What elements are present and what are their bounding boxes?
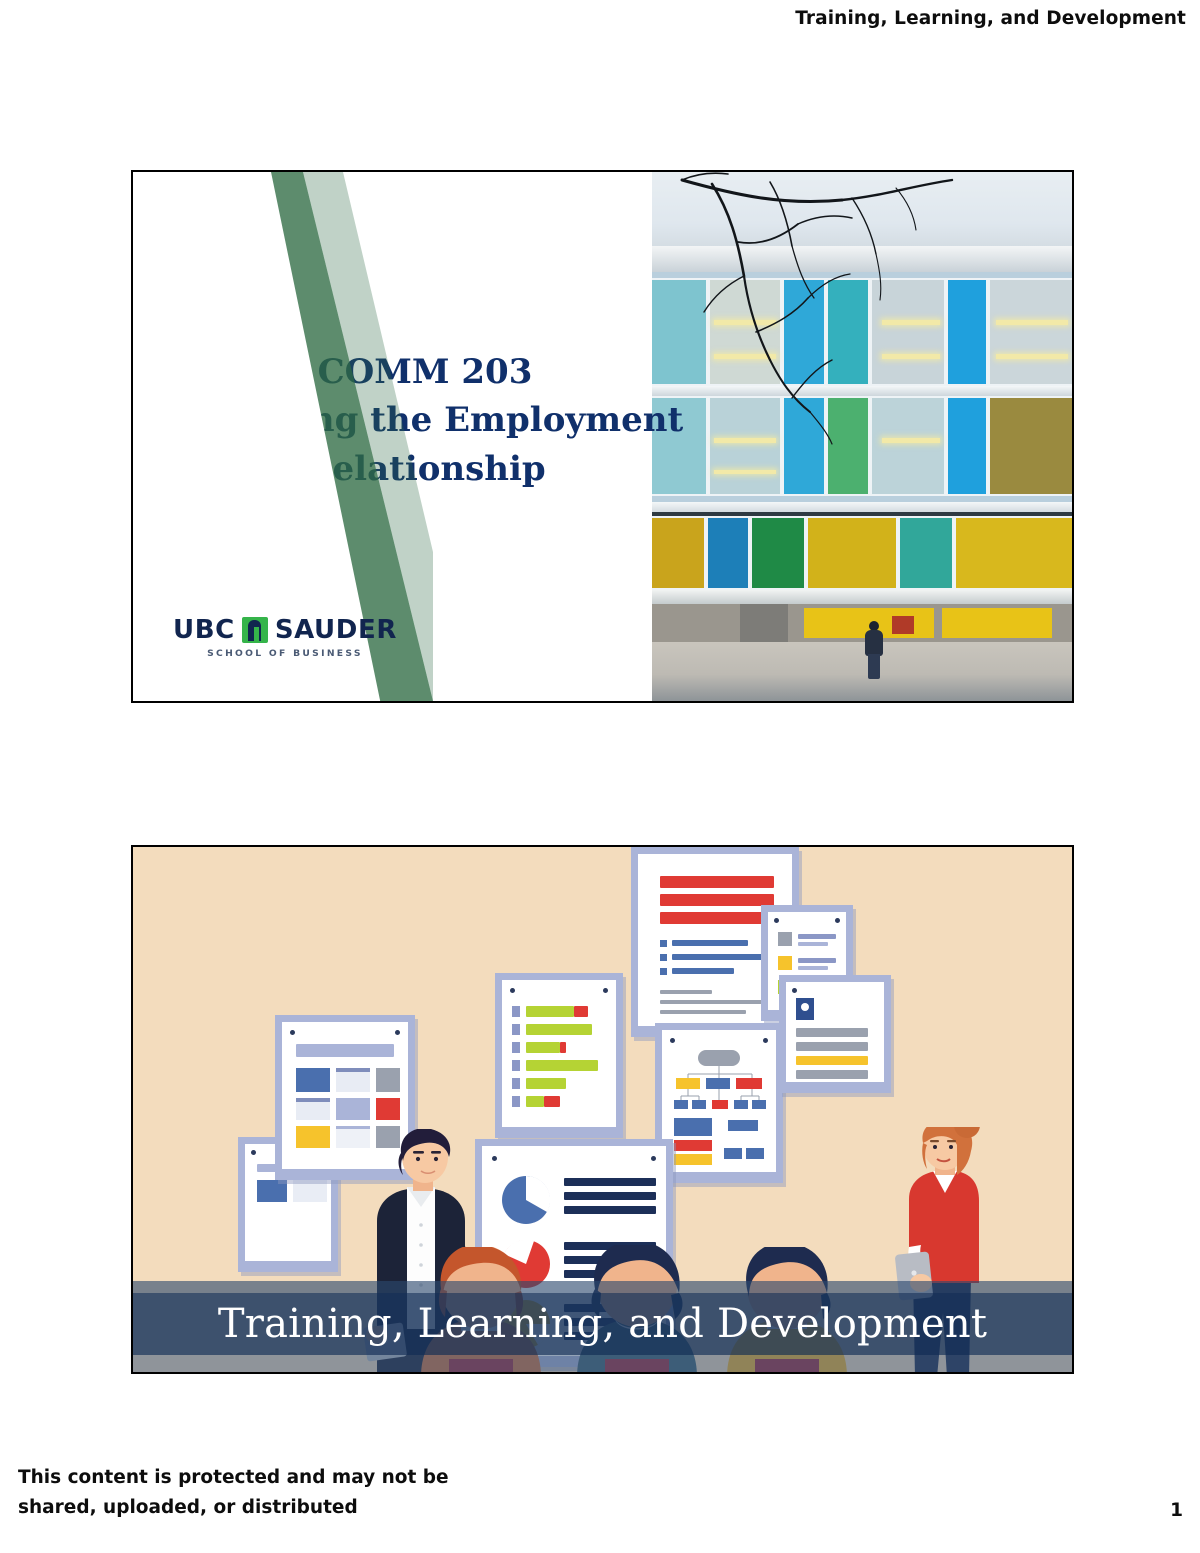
slide-2-section: Training, Learning, and Development: [131, 845, 1074, 1374]
section-banner: Training, Learning, and Development: [133, 1293, 1072, 1355]
tree-branches: [652, 172, 1072, 502]
photo-ground: [652, 642, 1072, 701]
slide-1-title: COMM 203 Managing the Employment Relatio…: [131, 170, 1074, 703]
banner-strip-top: [133, 1281, 1072, 1293]
poster-org-chart: [655, 1023, 783, 1183]
photo-lower-facade: [652, 512, 1072, 642]
banner-strip-bottom: [133, 1355, 1072, 1372]
section-banner-text: Training, Learning, and Development: [218, 1301, 987, 1347]
slide-1-title-text: COMM 203 Managing the Employment Relatio…: [167, 348, 683, 493]
document-page: Training, Learning, and Development: [0, 0, 1200, 1553]
poster-bar-chart: [495, 973, 623, 1138]
logo-wordmark-row: UBC SAUDER: [173, 615, 397, 645]
copyright-notice: This content is protected and may not be…: [18, 1463, 449, 1523]
logo-subtitle: SCHOOL OF BUSINESS: [207, 648, 363, 659]
page-header-title: Training, Learning, and Development: [795, 8, 1186, 29]
poster-profile-card: [779, 975, 891, 1093]
ubc-sauder-logo: UBC SAUDER SCHOOL OF BUSINESS: [173, 615, 397, 659]
building-photo: [652, 172, 1072, 701]
logo-word-ubc: UBC: [173, 615, 235, 645]
page-number: 1: [1170, 1500, 1183, 1521]
ubc-sauder-doorway-mark-icon: [242, 617, 268, 643]
org-chart-connectors: [662, 1030, 780, 1180]
training-illustration: Training, Learning, and Development: [133, 847, 1072, 1372]
logo-word-sauder: SAUDER: [275, 615, 397, 645]
photo-person: [864, 621, 884, 679]
